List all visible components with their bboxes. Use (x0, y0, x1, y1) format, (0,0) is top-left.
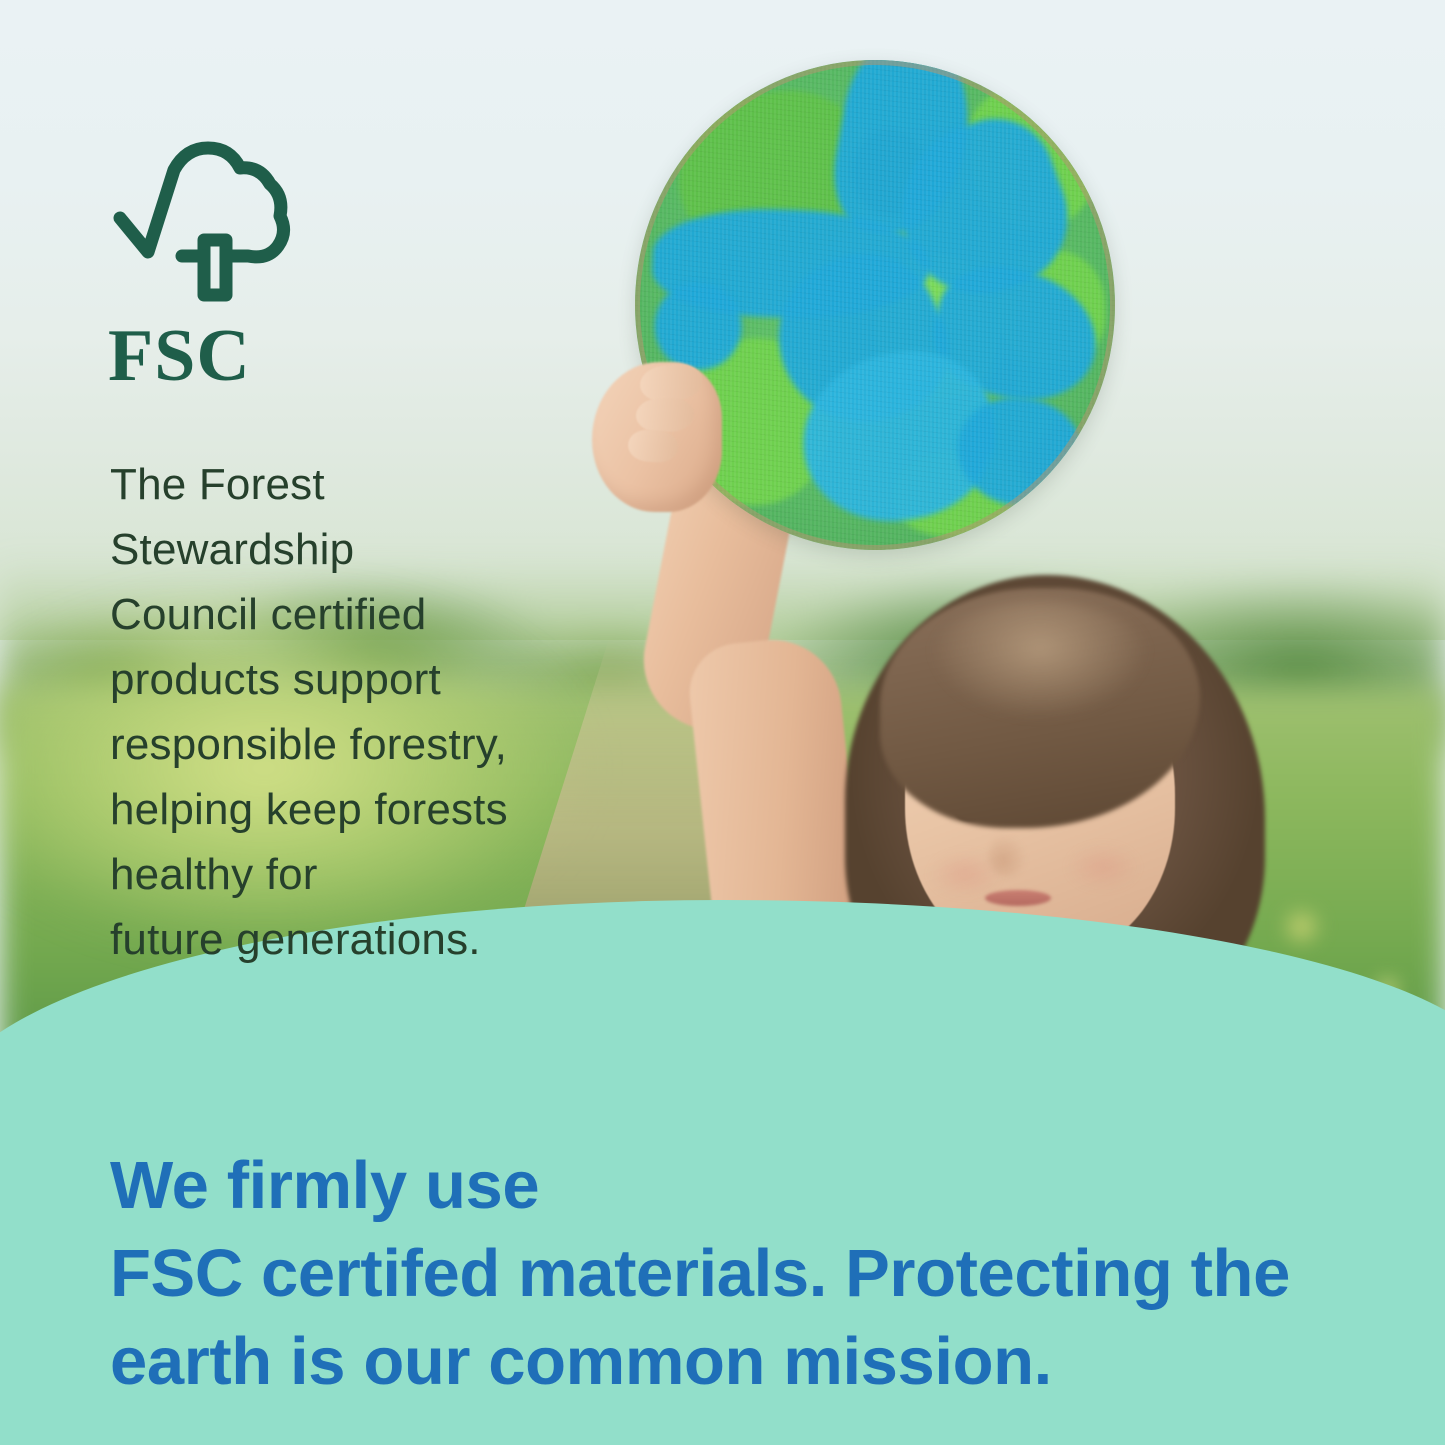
globe-ocean (752, 229, 972, 450)
globe-landmass (890, 447, 1027, 540)
hair-highlight (930, 600, 1150, 720)
globe-ocean (790, 338, 1008, 535)
globe-ocean (651, 205, 933, 322)
mouth (985, 890, 1051, 906)
globe-ocean (921, 253, 1110, 416)
globe-ocean (824, 52, 981, 245)
globe-ocean (950, 390, 1089, 514)
headline-text: We firmly use FSC certifed materials. Pr… (110, 1142, 1370, 1406)
globe-ocean (653, 280, 742, 371)
promo-image-canvas: FSC The Forest Stewardship Council certi… (0, 0, 1445, 1445)
fsc-tree-checkmark-icon (108, 140, 308, 315)
globe-landmass (873, 252, 1003, 403)
cheek (1068, 845, 1138, 889)
globe-landmass (988, 248, 1107, 370)
globe-landmass (668, 80, 881, 272)
globe-landmass (963, 81, 1102, 233)
fsc-description-text: The Forest Stewardship Council certified… (110, 452, 630, 972)
finger (635, 397, 694, 433)
globe-landmass (850, 127, 930, 218)
fsc-wordmark: FSC (108, 319, 318, 393)
fsc-logo: FSC (108, 140, 318, 390)
nose (988, 835, 1026, 877)
